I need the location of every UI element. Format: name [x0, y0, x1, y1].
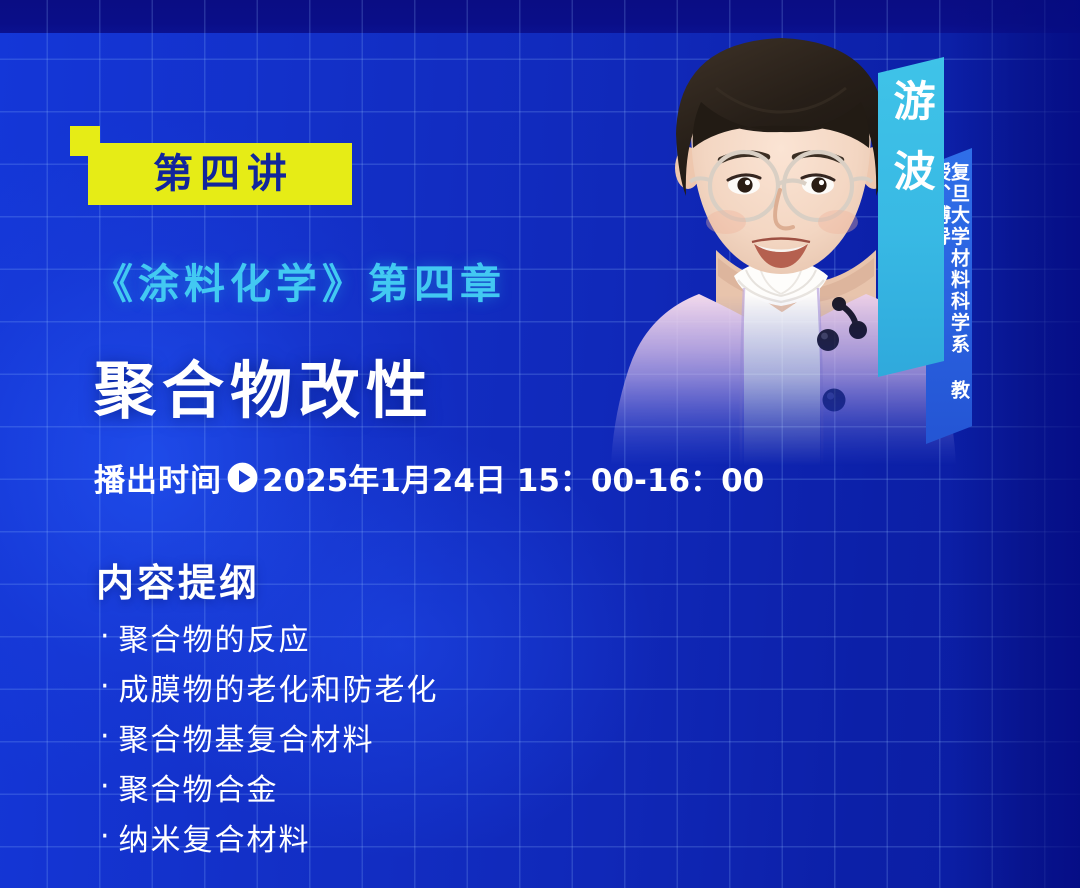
list-item-label: 纳米复合材料 — [119, 815, 311, 859]
lecture-badge-body: 第四讲 — [88, 143, 352, 205]
speaker-name-banner: 游波 — [878, 57, 944, 377]
list-item: · 纳米复合材料 — [100, 812, 439, 862]
list-item-label: 聚合物基复合材料 — [119, 715, 375, 759]
lecture-badge-label: 第四讲 — [146, 154, 294, 194]
outline-heading: 内容提纲 — [96, 552, 260, 607]
bullet-icon: · — [100, 672, 112, 702]
outline-list: · 聚合物的反应 · 成膜物的老化和防老化 · 聚合物基复合材料 · 聚合物合金… — [100, 612, 439, 862]
bullet-icon: · — [100, 772, 112, 802]
bullet-icon: · — [100, 722, 112, 752]
airtime-label: 播出时间 — [94, 455, 222, 500]
list-item-label: 聚合物的反应 — [119, 615, 311, 659]
page-title: 聚合物改性 — [94, 358, 434, 423]
list-item-label: 聚合物合金 — [119, 765, 279, 809]
course-subtitle: 《涂料化学》第四章 — [92, 262, 506, 307]
list-item: · 聚合物基复合材料 — [100, 712, 439, 762]
speaker-name: 游波 — [890, 79, 932, 219]
list-item-label: 成膜物的老化和防老化 — [119, 665, 439, 709]
list-item: · 聚合物的反应 — [100, 612, 439, 662]
airtime-row: 播出时间 2025年1月24日 15：00-16：00 — [94, 455, 764, 500]
lecture-poster: 第四讲 《涂料化学》第四章 聚合物改性 播出时间 2025年1月24日 15：0… — [0, 0, 1080, 888]
airtime-value: 2025年1月24日 15：00-16：00 — [262, 455, 764, 500]
bullet-icon: · — [100, 822, 112, 852]
play-circle-icon[interactable] — [225, 460, 260, 495]
list-item: · 聚合物合金 — [100, 762, 439, 812]
lecture-badge: 第四讲 — [70, 126, 370, 208]
list-item: · 成膜物的老化和防老化 — [100, 662, 439, 712]
bullet-icon: · — [100, 622, 112, 652]
